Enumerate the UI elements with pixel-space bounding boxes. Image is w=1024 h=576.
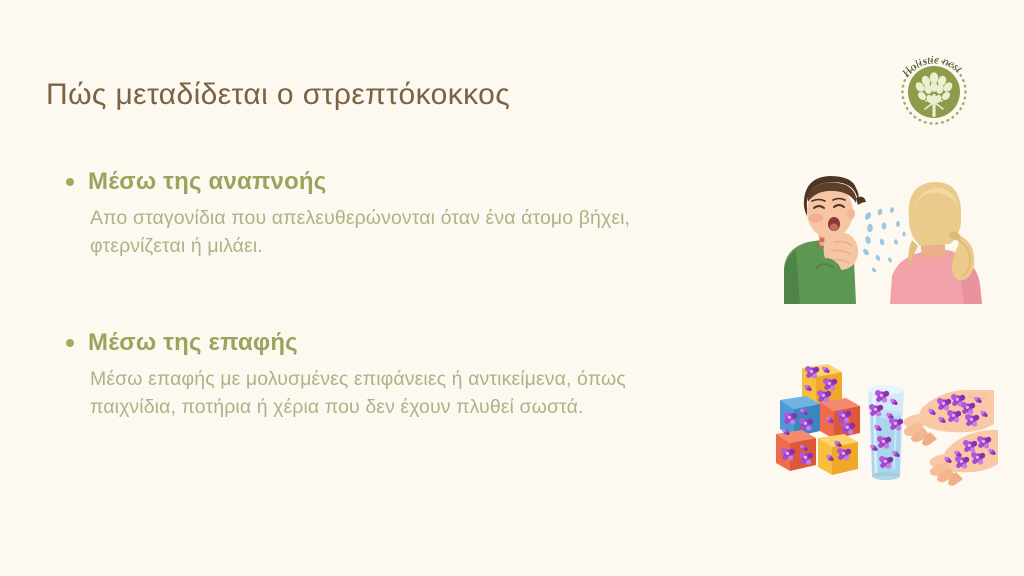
bullet-item-contact: Μέσω της επαφής Μέσω επαφής με μολυσμένε… <box>60 329 720 422</box>
bullet-heading-row: Μέσω της αναπνοής <box>66 168 720 196</box>
bullet-body-text: Μέσω επαφής με μολυσμένες επιφάνειες ή α… <box>90 365 710 422</box>
coughing-man-figure <box>784 176 866 304</box>
bullet-item-respiratory: Μέσω της αναπνοής Απο σταγονίδια που απε… <box>60 168 720 261</box>
contaminated-hands <box>904 390 998 486</box>
bullet-dot-icon <box>66 178 74 186</box>
slide-title: Πώς μεταδίδεται ο στρεπτόκοκκος <box>46 78 510 112</box>
contact-transmission-illustration <box>772 362 998 490</box>
slide-root: Holistic nest Πώς μεταδίδεται ο στρεπτόκ… <box>0 0 1024 576</box>
water-glass <box>868 385 904 480</box>
bullet-list: Μέσω της αναπνοής Απο σταγονίδια που απε… <box>60 168 720 421</box>
cough-transmission-illustration <box>772 172 994 304</box>
bullet-heading: Μέσω της αναπνοής <box>88 168 326 196</box>
woman-figure <box>890 182 982 304</box>
sneeze-droplets <box>862 207 906 273</box>
toy-blocks <box>776 364 860 475</box>
block-yellow-bottom <box>818 434 858 475</box>
bullet-dot-icon <box>66 339 74 347</box>
bullet-body-text: Απο σταγονίδια που απελευθερώνονται όταν… <box>90 204 710 261</box>
bullet-heading: Μέσω της επαφής <box>88 329 298 357</box>
holistic-nest-logo: Holistic nest <box>888 42 980 126</box>
bullet-heading-row: Μέσω της επαφής <box>66 329 720 357</box>
